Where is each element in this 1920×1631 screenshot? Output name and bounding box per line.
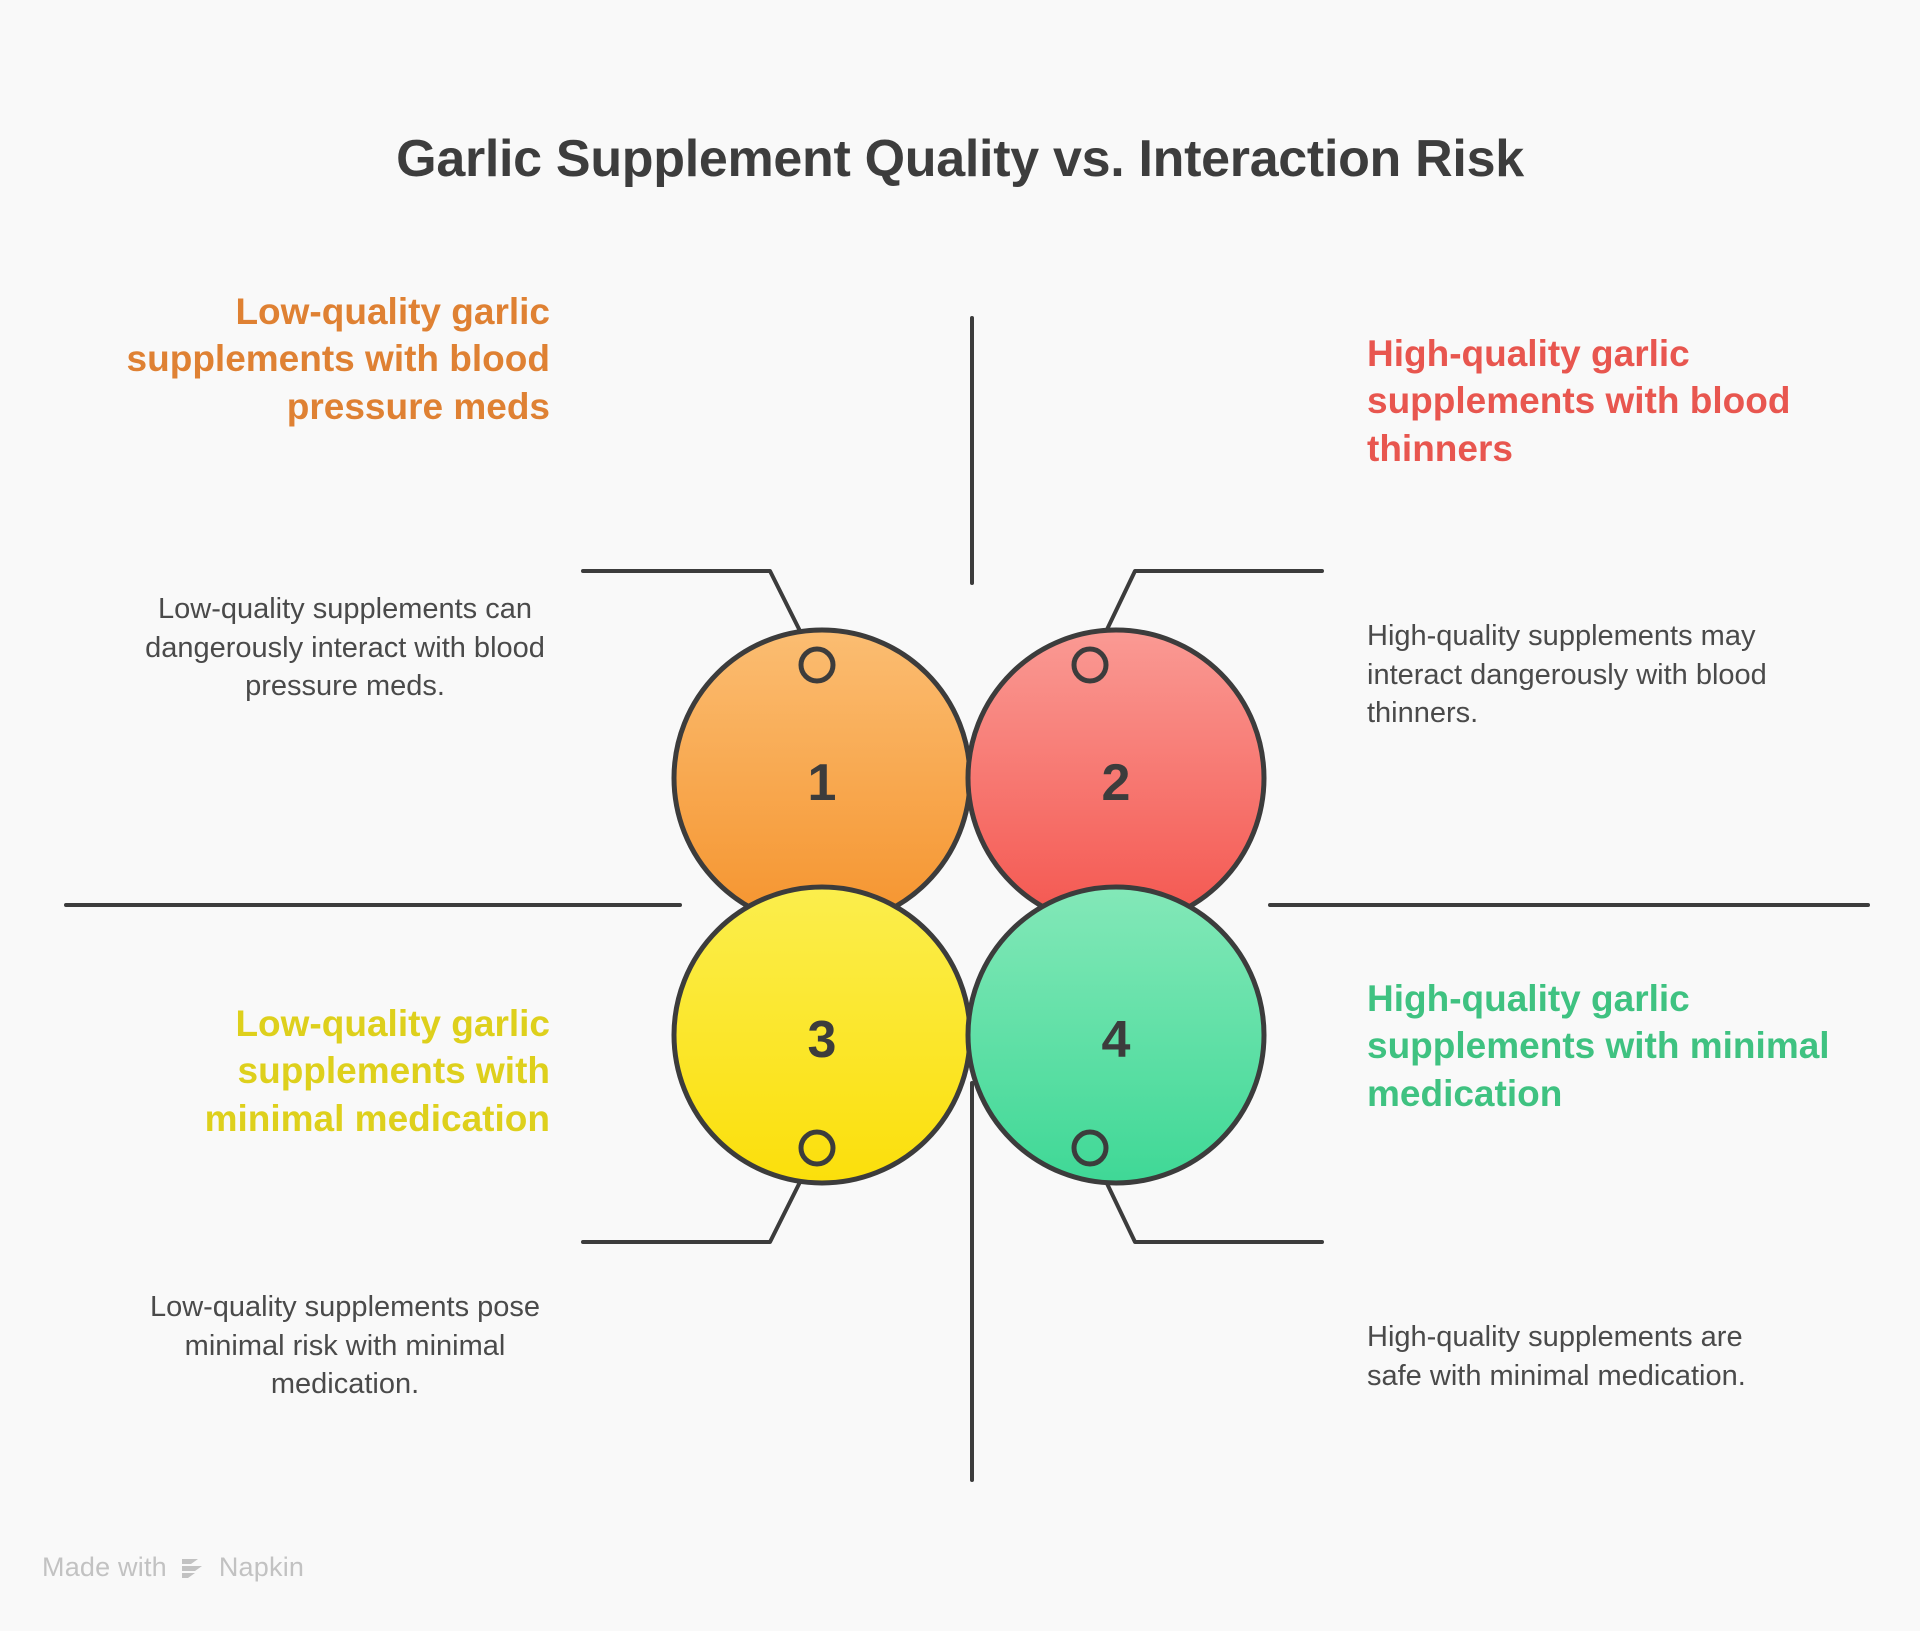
napkin-chevron-icon xyxy=(178,1553,208,1583)
circle-group xyxy=(674,630,1264,1183)
infographic-canvas: Garlic Supplement Quality vs. Interactio… xyxy=(0,0,1920,1631)
quadrant-4-heading: High-quality garlic supplements with min… xyxy=(1367,975,1837,1117)
footer-made-with-label: Made with xyxy=(42,1552,167,1583)
page-title: Garlic Supplement Quality vs. Interactio… xyxy=(0,128,1920,190)
quadrant-1-heading: Low-quality garlic supplements with bloo… xyxy=(90,288,550,430)
quadrant-circle-3[interactable] xyxy=(674,887,970,1183)
quadrant-3-heading: Low-quality garlic supplements with mini… xyxy=(90,1000,550,1142)
quadrant-2-body: High-quality supplements may interact da… xyxy=(1367,617,1767,733)
quadrant-2-heading: High-quality garlic supplements with blo… xyxy=(1367,330,1837,472)
quadrant-3-body: Low-quality supplements pose minimal ris… xyxy=(140,1288,550,1404)
quadrant-circle-2[interactable] xyxy=(968,630,1264,926)
footer-watermark[interactable]: Made with Napkin xyxy=(42,1552,304,1583)
footer-brand-label: Napkin xyxy=(219,1552,304,1583)
quadrant-1-body: Low-quality supplements can dangerously … xyxy=(140,590,550,706)
quadrant-4-body: High-quality supplements are safe with m… xyxy=(1367,1318,1767,1395)
quadrant-circle-1[interactable] xyxy=(674,630,970,926)
quadrant-circle-4[interactable] xyxy=(968,887,1264,1183)
